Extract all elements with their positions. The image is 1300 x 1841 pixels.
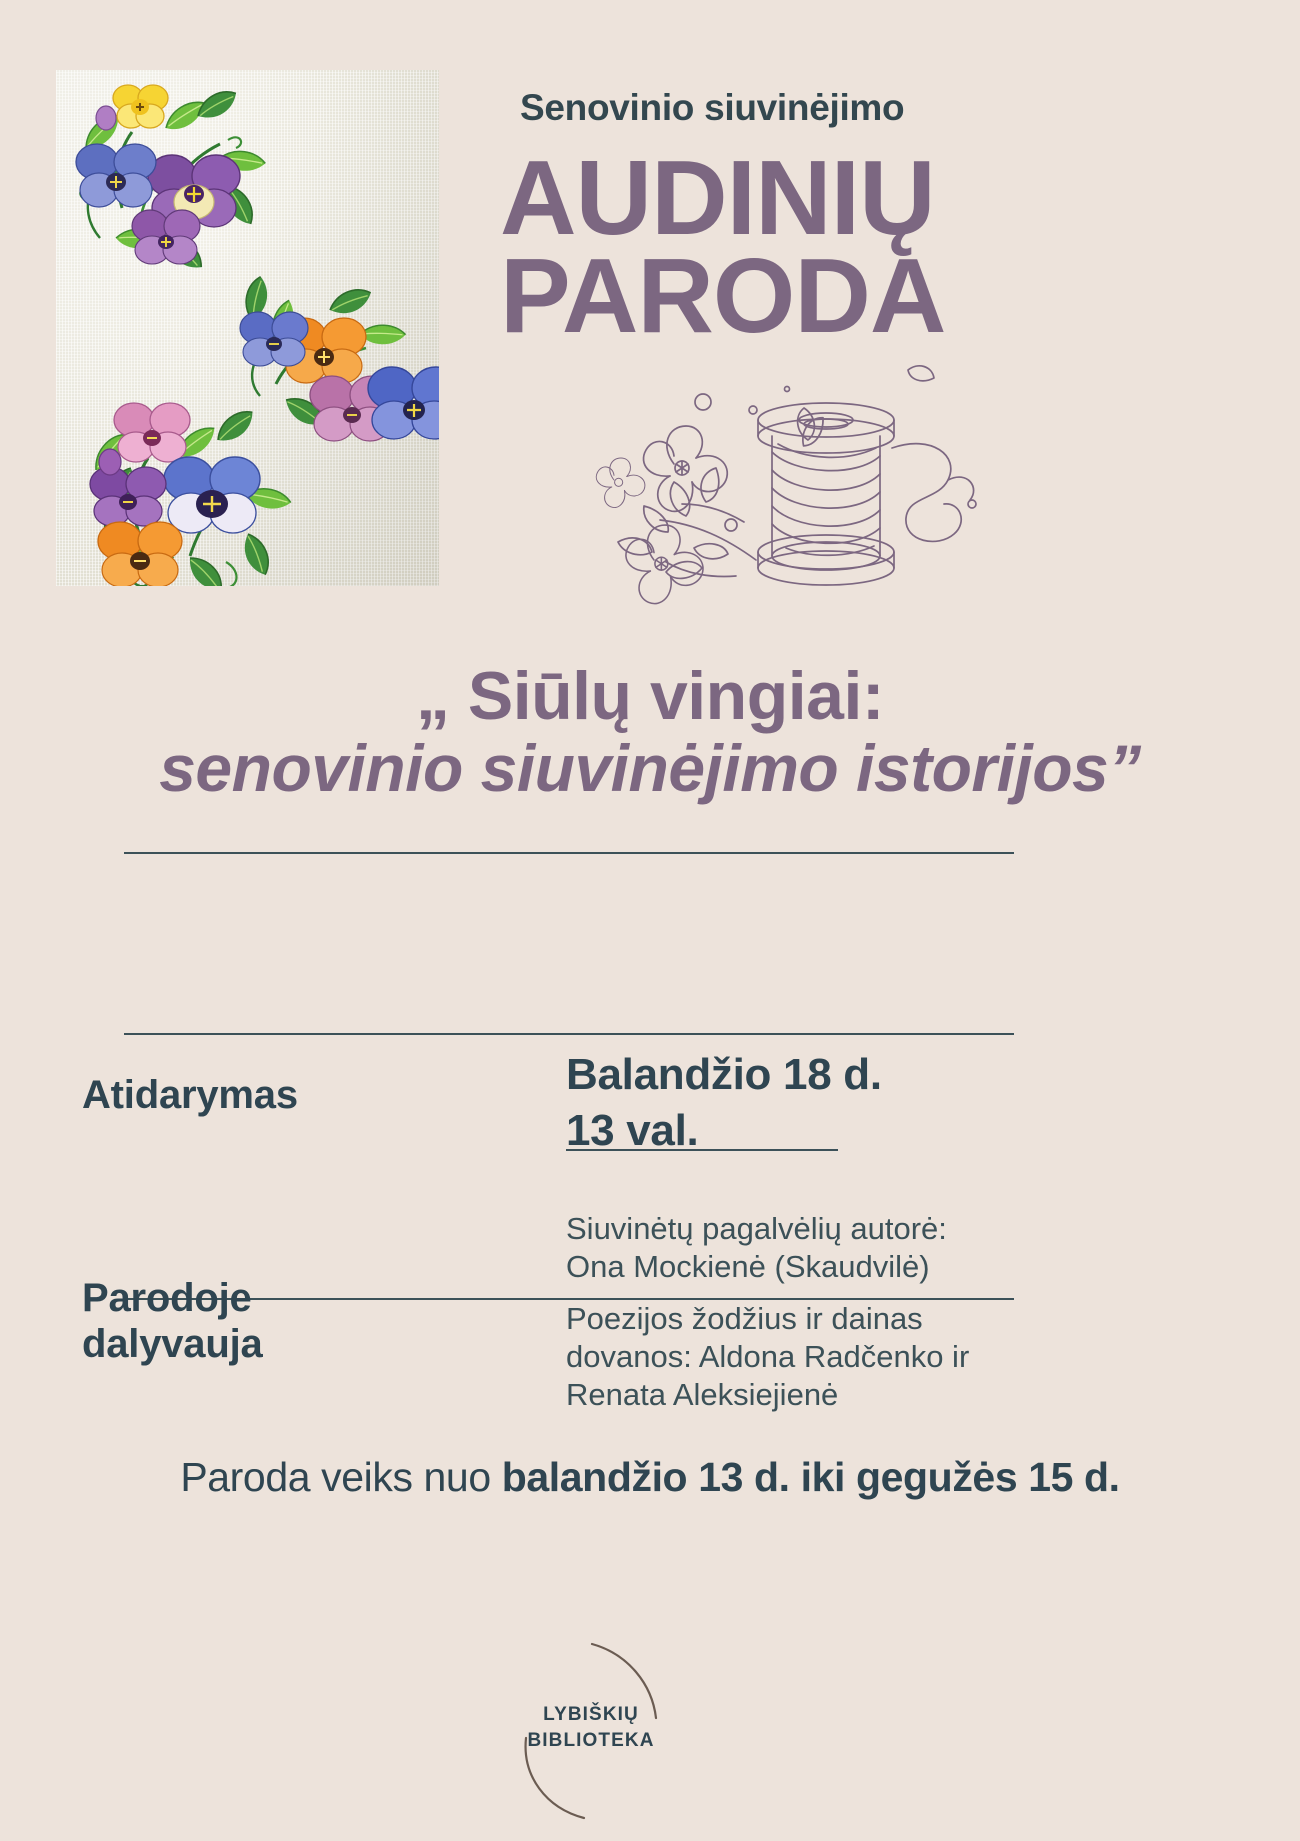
poetry-line-1: Poezijos žodžius ir dainas	[566, 1300, 1106, 1338]
opening-label: Atidarymas	[82, 1072, 502, 1118]
logo-line-2: BIBLIOTEKA	[466, 1728, 716, 1754]
participant-poetry-guests: Poezijos žodžius ir dainas dovanos: Aldo…	[566, 1300, 1106, 1413]
thread-spool-icon	[556, 352, 996, 622]
logo-text: LYBIŠKIŲ BIBLIOTEKA	[466, 1702, 716, 1754]
embroidered-pansies-artwork	[56, 70, 439, 586]
run-prefix: Paroda veiks nuo	[180, 1454, 501, 1500]
logo-line-1: LYBIŠKIŲ	[466, 1702, 716, 1728]
title-line-1: AUDINIŲ	[500, 150, 1240, 248]
poetry-line-2: dovanos: Aldona Radčenko ir	[566, 1338, 1106, 1376]
run-dates-bold: balandžio 13 d. iki gegužės 15 d.	[502, 1454, 1120, 1500]
title-line-2: PARODA	[500, 248, 1240, 346]
exhibition-quote: „ Siūlų vingiai: senovinio siuvinėjimo i…	[0, 660, 1300, 805]
pillows-author-line-2: Ona Mockienė (Skaudvilė)	[566, 1248, 1086, 1286]
poster-kicker: Senovinio siuvinėjimo	[520, 88, 1240, 129]
pillows-author-line-1: Siuvinėtų pagalvėlių autorė:	[566, 1210, 1086, 1248]
participants-label: Parodoje dalyvauja	[82, 1275, 502, 1367]
participants-label-line-1: Parodoje	[82, 1275, 502, 1321]
poetry-line-3: Renata Aleksiejienė	[566, 1376, 1106, 1414]
participants-label-line-2: dalyvauja	[82, 1321, 502, 1367]
opening-date: Balandžio 18 d.	[566, 1047, 1036, 1103]
divider-participants-inner	[566, 1149, 838, 1151]
library-logo: LYBIŠKIŲ BIBLIOTEKA	[466, 1636, 716, 1836]
page-title: AUDINIŲ PARODA	[500, 150, 1240, 345]
divider-middle	[124, 1033, 1014, 1035]
exhibition-run-dates: Paroda veiks nuo balandžio 13 d. iki geg…	[0, 1454, 1300, 1501]
opening-time: 13 val.	[566, 1103, 1036, 1159]
quote-line-2: senovinio siuvinėjimo istorijos”	[0, 733, 1300, 804]
embroidery-photo	[56, 70, 439, 586]
participant-pillows-author: Siuvinėtų pagalvėlių autorė: Ona Mockien…	[566, 1210, 1086, 1286]
divider-top	[124, 852, 1014, 854]
poster-canvas: Senovinio siuvinėjimo AUDINIŲ PARODA	[0, 0, 1300, 1839]
opening-value: Balandžio 18 d. 13 val.	[566, 1047, 1036, 1160]
quote-line-1: „ Siūlų vingiai:	[0, 660, 1300, 733]
